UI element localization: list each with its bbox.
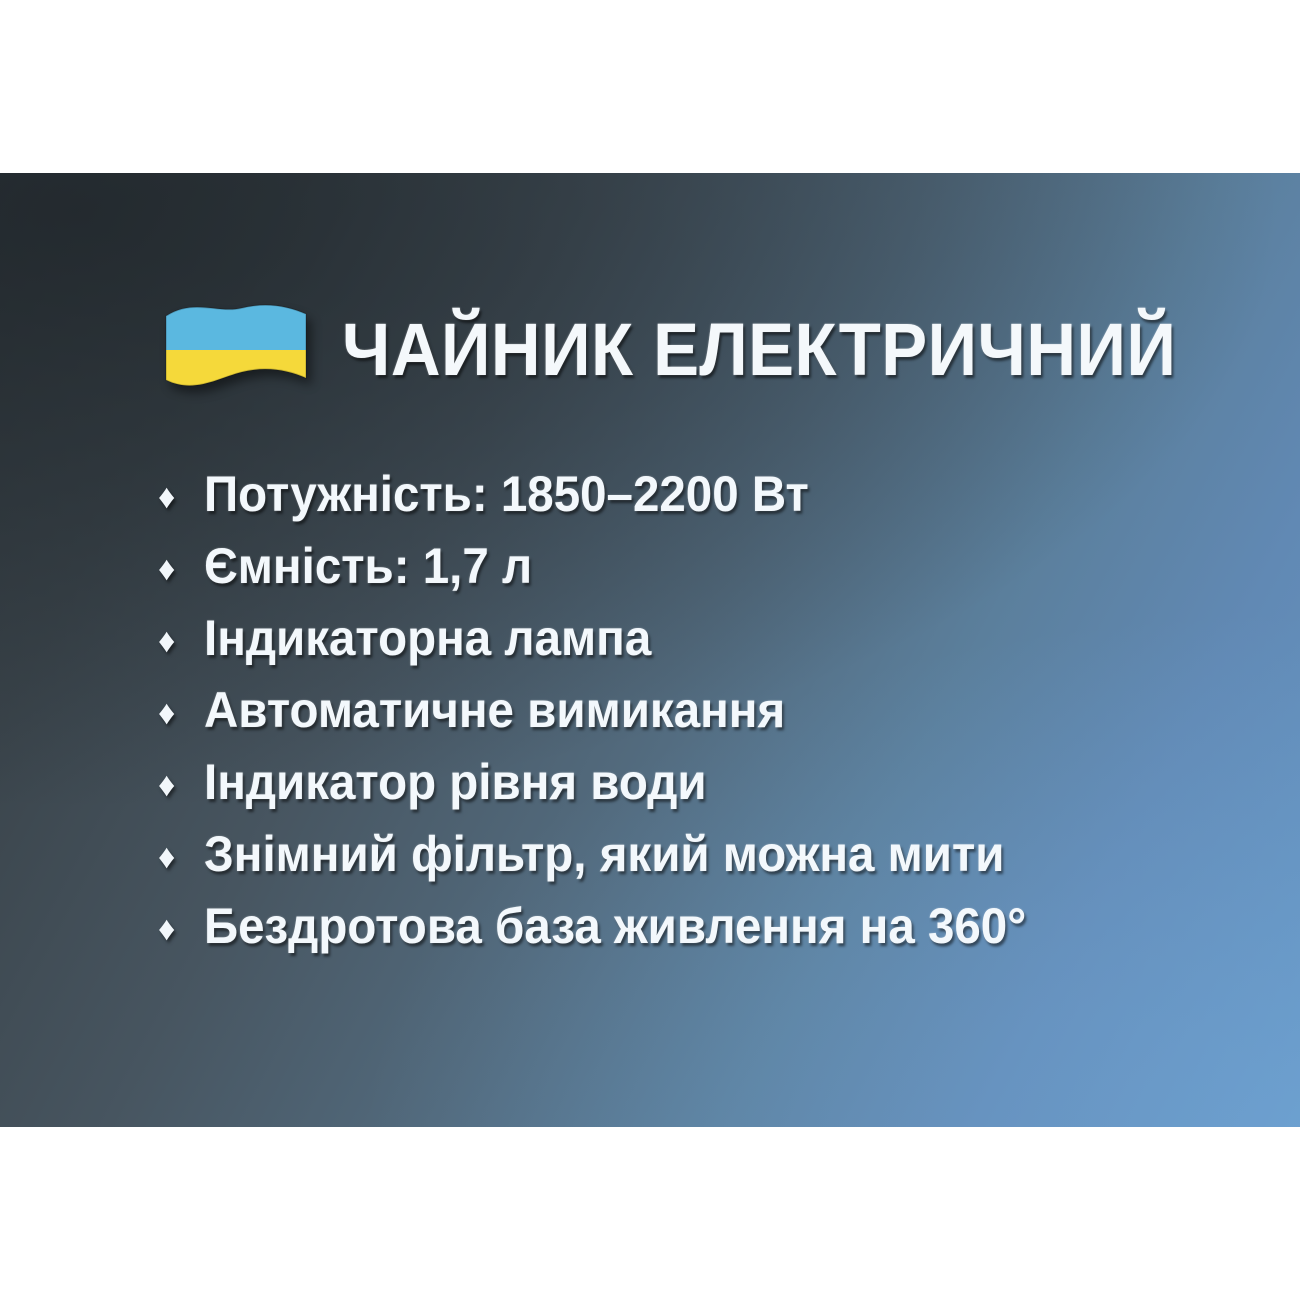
- diamond-bullet-icon: ♦: [158, 768, 204, 802]
- list-item-label: Потужність: 1850–2200 Вт: [204, 469, 809, 519]
- list-item-label: Ємність: 1,7 л: [204, 541, 532, 591]
- letterboxed-image-frame: ЧАЙНИК ЕЛЕКТРИЧНИЙ ♦ Потужність: 1850–22…: [0, 0, 1300, 1300]
- list-item-label: Бездротова база живлення на 360°: [204, 901, 1026, 951]
- list-item-label: Автоматичне вимикання: [204, 685, 785, 735]
- ukraine-flag-icon: [160, 300, 312, 400]
- diamond-bullet-icon: ♦: [158, 912, 204, 946]
- list-item: ♦ Індикаторна лампа: [158, 613, 1069, 685]
- list-item: ♦ Автоматичне вимикання: [158, 685, 1069, 757]
- feature-list: ♦ Потужність: 1850–2200 Вт ♦ Ємність: 1,…: [158, 469, 1069, 973]
- slide-header: ЧАЙНИК ЕЛЕКТРИЧНИЙ: [160, 300, 1239, 400]
- list-item-label: Індикатор рівня води: [204, 757, 707, 807]
- list-item: ♦ Індикатор рівня води: [158, 757, 1069, 829]
- diamond-bullet-icon: ♦: [158, 696, 204, 730]
- diamond-bullet-icon: ♦: [158, 840, 204, 874]
- list-item: ♦ Бездротова база живлення на 360°: [158, 901, 1069, 973]
- list-item-label: Індикаторна лампа: [204, 613, 651, 663]
- list-item: ♦ Ємність: 1,7 л: [158, 541, 1069, 613]
- list-item-label: Знімний фільтр, який можна мити: [204, 829, 1004, 879]
- list-item: ♦ Потужність: 1850–2200 Вт: [158, 469, 1069, 541]
- product-spec-slide: ЧАЙНИК ЕЛЕКТРИЧНИЙ ♦ Потужність: 1850–22…: [0, 173, 1300, 1127]
- list-item: ♦ Знімний фільтр, який можна мити: [158, 829, 1069, 901]
- diamond-bullet-icon: ♦: [158, 480, 204, 514]
- diamond-bullet-icon: ♦: [158, 624, 204, 658]
- diamond-bullet-icon: ♦: [158, 552, 204, 586]
- page-title: ЧАЙНИК ЕЛЕКТРИЧНИЙ: [342, 316, 1176, 384]
